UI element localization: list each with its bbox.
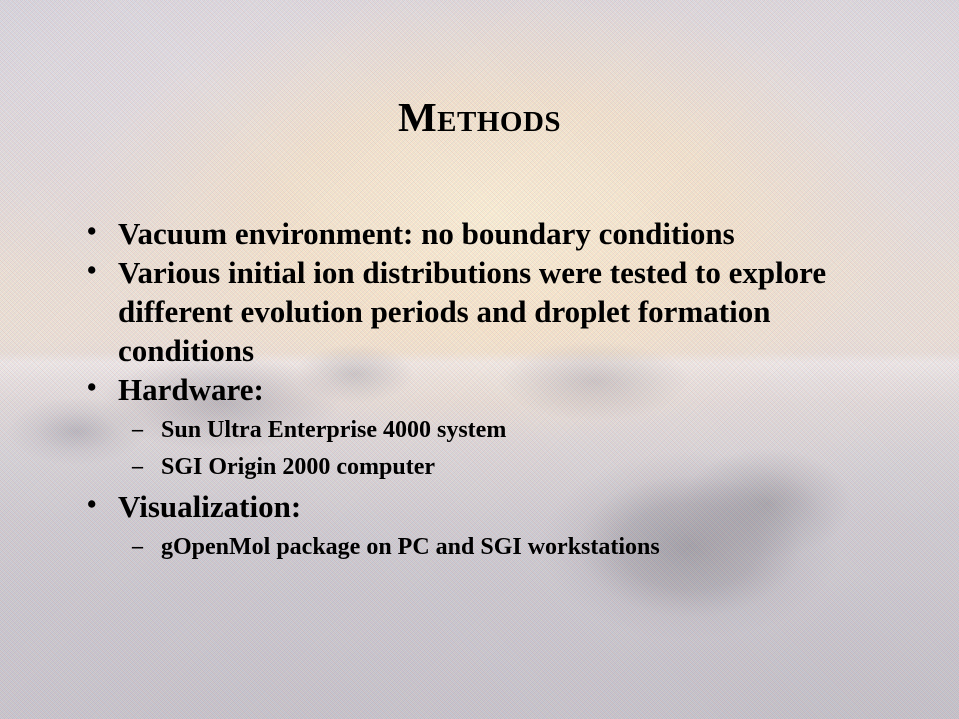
- sub-bullet-text: SGI Origin 2000 computer: [161, 452, 920, 483]
- slide-content: Methods • Vacuum environment: no boundar…: [0, 0, 959, 719]
- bullet-text: Various initial ion distributions were t…: [118, 253, 878, 370]
- sub-bullet-text: Sun Ultra Enterprise 4000 system: [161, 415, 920, 446]
- dash-marker-icon: –: [132, 452, 161, 481]
- bullet-marker-icon: •: [80, 487, 118, 521]
- bullet-marker-icon: •: [80, 214, 118, 248]
- bullet-marker-icon: •: [80, 370, 118, 404]
- bullet-item: • Various initial ion distributions were…: [80, 253, 920, 370]
- bullet-text: Visualization:: [118, 487, 878, 526]
- bullet-item: • Visualization:: [80, 487, 920, 526]
- bullet-item: • Hardware:: [80, 370, 920, 409]
- sub-bullet-text: gOpenMol package on PC and SGI workstati…: [161, 532, 920, 563]
- bullet-text: Hardware:: [118, 370, 878, 409]
- dash-marker-icon: –: [132, 532, 161, 561]
- presentation-slide: Methods • Vacuum environment: no boundar…: [0, 0, 959, 719]
- sub-bullet-item: – SGI Origin 2000 computer: [132, 452, 920, 483]
- slide-title: Methods: [0, 96, 959, 139]
- slide-body-bullet-list: • Vacuum environment: no boundary condit…: [80, 214, 920, 563]
- bullet-text: Vacuum environment: no boundary conditio…: [118, 214, 878, 253]
- bullet-item: • Vacuum environment: no boundary condit…: [80, 214, 920, 253]
- dash-marker-icon: –: [132, 415, 161, 444]
- sub-bullet-item: – gOpenMol package on PC and SGI worksta…: [132, 532, 920, 563]
- sub-bullet-item: – Sun Ultra Enterprise 4000 system: [132, 415, 920, 446]
- bullet-marker-icon: •: [80, 253, 118, 287]
